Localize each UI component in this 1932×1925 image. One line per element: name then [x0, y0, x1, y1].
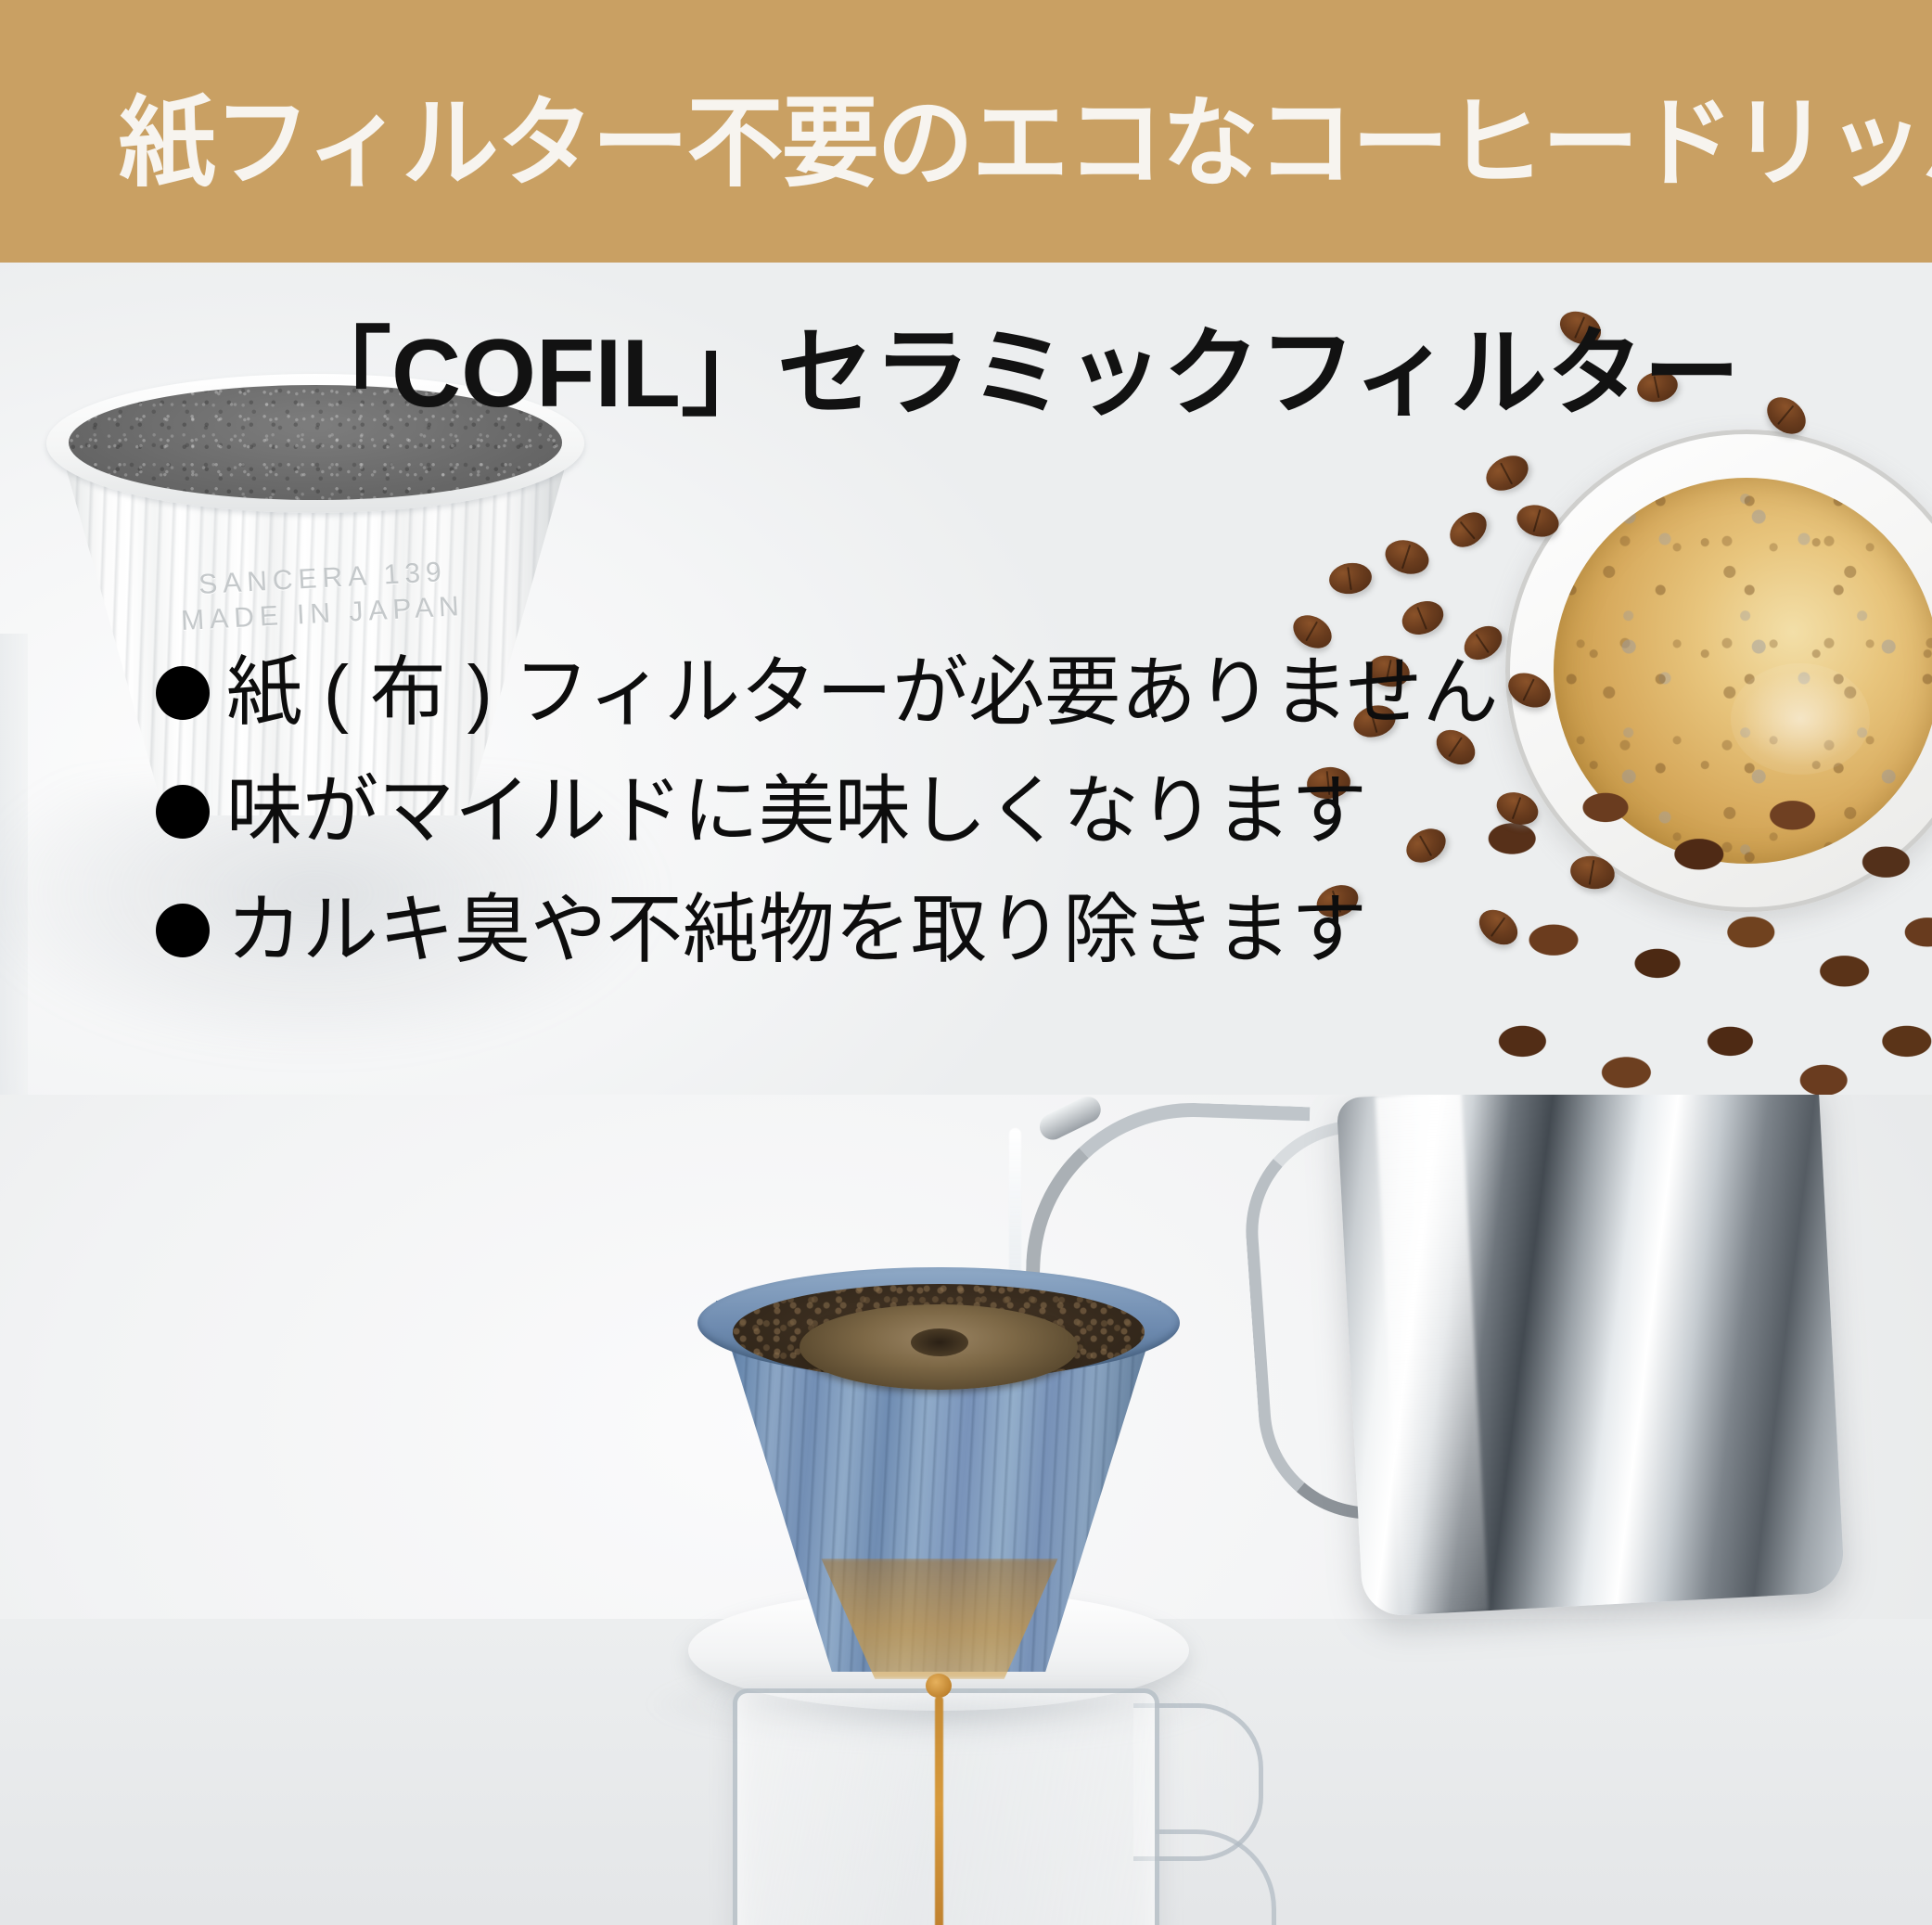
- bullet-text: カルキ臭や不純物を取り除きます: [226, 888, 1367, 973]
- gooseneck-kettle: [1337, 1095, 1846, 1617]
- glass-carafe: [733, 1688, 1159, 1925]
- coffee-drip-head: [926, 1674, 952, 1698]
- coffee-bean: [1443, 506, 1493, 555]
- bullet-dot-icon: [156, 666, 210, 720]
- list-item: 味がマイルドに美味しくなります: [156, 752, 1499, 871]
- coffee-grounds-crater: [911, 1328, 968, 1356]
- coffee-bean: [1327, 560, 1374, 597]
- header-banner-title: 紙フィルター不要のエコなコーヒードリッパー: [119, 89, 1932, 199]
- bullet-text: 味がマイルドに美味しくなります: [226, 769, 1367, 854]
- bullet-dot-icon: [156, 785, 210, 839]
- brewing-photo-section: [0, 1095, 1932, 1925]
- coffee-bean: [1480, 449, 1534, 498]
- list-item: 紙 ( 布 ) フィルターが必要ありません: [156, 634, 1499, 752]
- crema-highlight: [1731, 663, 1870, 775]
- list-item: カルキ臭や不純物を取り除きます: [156, 871, 1499, 990]
- header-banner: 紙フィルター不要のエコなコーヒードリッパー: [0, 0, 1932, 263]
- promo-page: 紙フィルター不要のエコなコーヒードリッパー SANCERA 139 MADE I…: [0, 0, 1932, 1925]
- feature-bullet-list: 紙 ( 布 ) フィルターが必要ありません 味がマイルドに美味しくなります カル…: [156, 634, 1499, 990]
- coffee-drip-stream: [935, 1696, 943, 1925]
- feature-section: SANCERA 139 MADE IN JAPAN: [0, 263, 1932, 1095]
- bullet-dot-icon: [156, 904, 210, 957]
- bullet-text: 紙 ( 布 ) フィルターが必要ありません: [226, 650, 1499, 736]
- coffee-bean: [1381, 534, 1433, 579]
- page-title: 「COFIL」セラミックフィルター: [295, 318, 1740, 430]
